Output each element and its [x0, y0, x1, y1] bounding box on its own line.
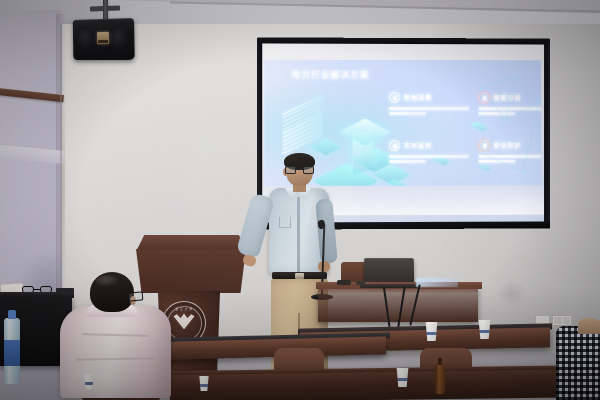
card-text-line: [389, 107, 469, 110]
seated-attendee: [58, 272, 173, 400]
lens-right: [303, 166, 314, 174]
seated-attendee-right: [556, 318, 600, 400]
checkered-shirt: [556, 326, 600, 400]
shirt-pocket: [279, 217, 291, 228]
presentation-room-scene: 电力行业解决方案: [0, 0, 600, 400]
attendee-shirt: [60, 306, 171, 398]
laptop-keyboard-base[interactable]: [360, 284, 418, 288]
card-text-line: [389, 160, 426, 163]
speaker-brand-badge: [97, 32, 109, 44]
iso-plate-top: [339, 118, 390, 145]
presenter-right-hand: [318, 261, 330, 272]
attendee-hair-highlight: [96, 275, 120, 287]
seal-top-text: 浙 江 大 学: [175, 307, 192, 311]
card-text-line: [389, 112, 426, 115]
slide-card: 实时监控: [389, 140, 469, 165]
slide-card: 数据采集: [389, 92, 469, 117]
network-lines-graphic: [476, 68, 541, 186]
card-body: [389, 155, 469, 163]
card-header: 数据采集: [389, 92, 469, 103]
lens-left: [285, 166, 296, 174]
attendee-right-shoulder: [578, 318, 600, 334]
eyeglasses-icon: [128, 291, 144, 301]
lectern-top-surface: [134, 235, 248, 251]
table-front-row: [170, 369, 600, 400]
bottle-label: [4, 340, 20, 366]
card-title: 实时监控: [404, 141, 432, 150]
belt-buckle: [295, 273, 304, 279]
speaker-cone-right: [110, 27, 130, 50]
brown-bottle: [435, 364, 445, 394]
database-icon: [389, 92, 400, 103]
speaker-cone-left: [78, 28, 97, 50]
desk-device: [337, 280, 351, 285]
eyeglasses-icon: [285, 166, 314, 174]
wall-smudge: [497, 280, 527, 306]
glasses-bridge: [296, 169, 303, 170]
desk-paper-glow: [416, 278, 458, 287]
card-text-line: [389, 155, 469, 158]
shirt-placket: [297, 197, 300, 273]
slide-title: 电力行业解决方案: [292, 69, 370, 81]
card-header: 实时监控: [389, 140, 469, 151]
blue-water-bottle: [4, 318, 20, 384]
card-title: 数据采集: [404, 93, 432, 102]
iso-plate-left: [310, 139, 341, 156]
card-body: [389, 107, 469, 115]
desk-remote: [356, 281, 365, 285]
ceiling-speaker: [73, 18, 135, 60]
screen-right-rail: [544, 43, 550, 229]
clock-icon: [389, 140, 400, 151]
